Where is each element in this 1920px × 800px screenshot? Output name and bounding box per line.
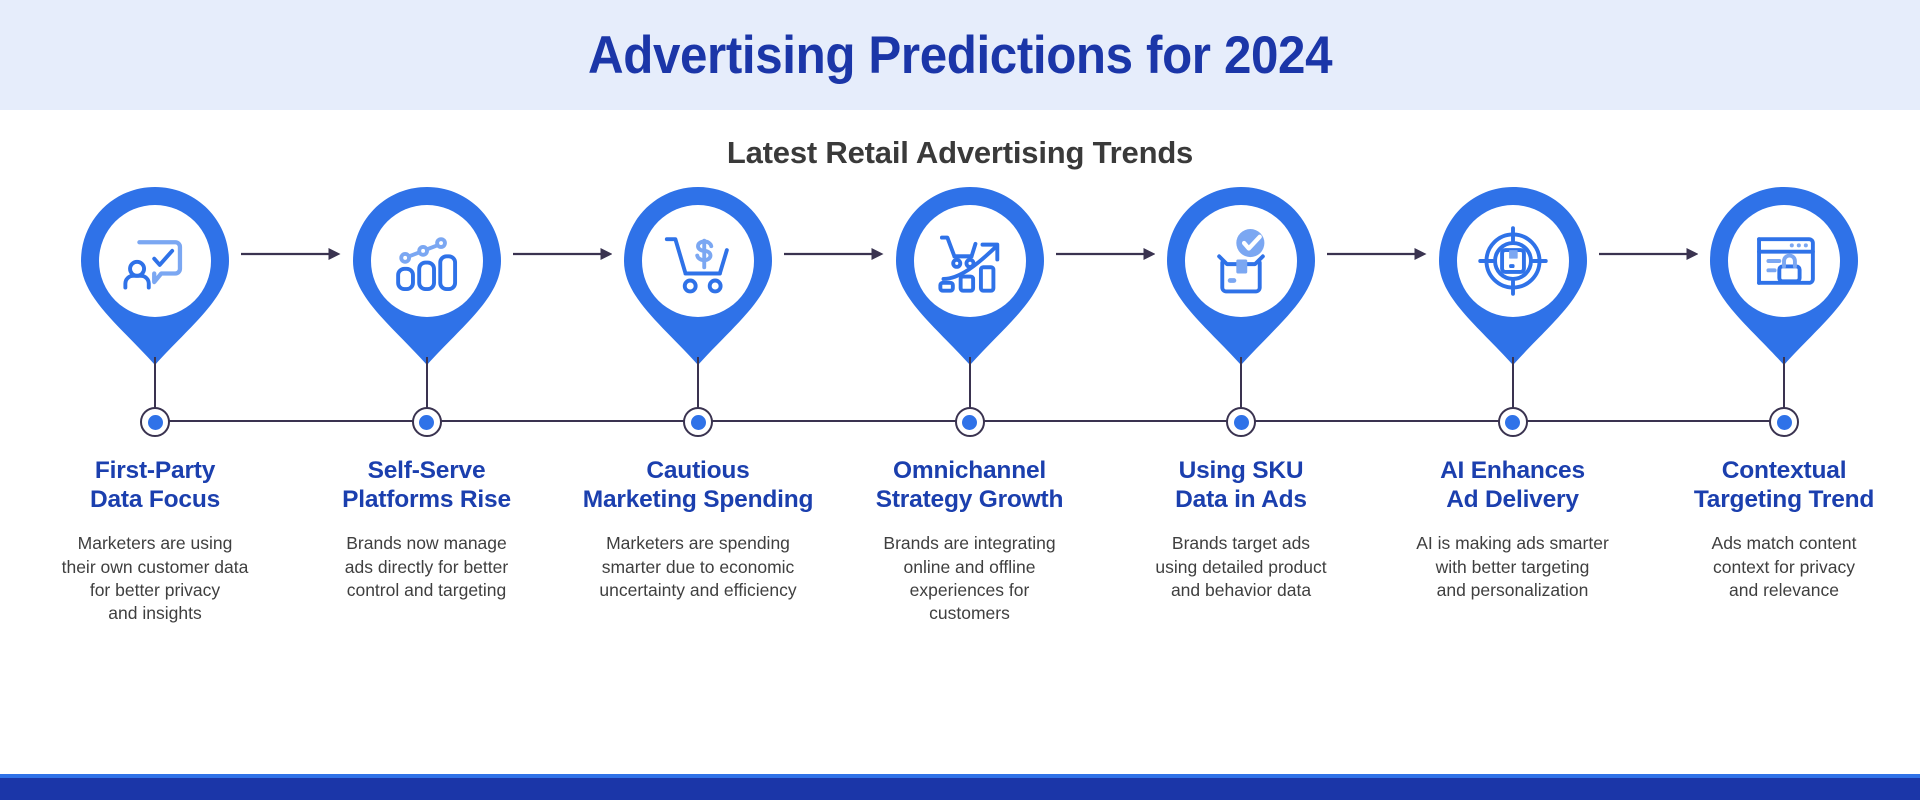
timeline-node[interactable] (1769, 407, 1799, 437)
flow-arrow-6 (1599, 247, 1699, 259)
subtitle: Latest Retail Advertising Trends (0, 135, 1920, 171)
timeline-node-dot (419, 415, 434, 430)
timeline-step-1[interactable]: First-Party Data FocusMarketers are usin… (18, 185, 292, 435)
flow-arrow-2 (513, 247, 613, 259)
step-caption: Omnichannel Strategy GrowthBrands are in… (833, 457, 1107, 625)
footer-band (0, 778, 1920, 800)
step-title: Cautious Marketing Spending (561, 457, 835, 514)
pin-marker[interactable] (18, 185, 292, 435)
step-caption: First-Party Data FocusMarketers are usin… (18, 457, 292, 625)
pin-marker[interactable] (833, 185, 1107, 435)
timeline-node-dot (962, 415, 977, 430)
step-description: Marketers are spending smarter due to ec… (561, 532, 835, 602)
timeline-node[interactable] (683, 407, 713, 437)
timeline-step-4[interactable]: Omnichannel Strategy GrowthBrands are in… (833, 185, 1107, 435)
timeline-node-dot (148, 415, 163, 430)
shopping-cart-dollar-icon (659, 222, 737, 300)
step-description: Brands target ads using detailed product… (1104, 532, 1378, 602)
timeline-node-dot (1505, 415, 1520, 430)
step-description: Marketers are using their own customer d… (18, 532, 292, 625)
step-description: Brands now manage ads directly for bette… (290, 532, 564, 602)
cart-growth-chart-icon (931, 222, 1009, 300)
pin-marker[interactable] (1376, 185, 1650, 435)
timeline-step-7[interactable]: Contextual Targeting TrendAds match cont… (1647, 185, 1920, 435)
step-caption: Self-Serve Platforms RiseBrands now mana… (290, 457, 564, 602)
feedback-check-icon (116, 222, 194, 300)
open-box-check-icon (1202, 222, 1280, 300)
timeline-stage: First-Party Data FocusMarketers are usin… (0, 185, 1920, 745)
step-caption: Cautious Marketing SpendingMarketers are… (561, 457, 835, 602)
flow-arrow-5 (1327, 247, 1427, 259)
step-description: AI is making ads smarter with better tar… (1376, 532, 1650, 602)
step-title: Self-Serve Platforms Rise (290, 457, 564, 514)
flow-arrow-1 (241, 247, 341, 259)
step-caption: Contextual Targeting TrendAds match cont… (1647, 457, 1920, 602)
step-caption: Using SKU Data in AdsBrands target ads u… (1104, 457, 1378, 602)
flow-arrow-4 (1056, 247, 1156, 259)
timeline-node[interactable] (140, 407, 170, 437)
step-title: Contextual Targeting Trend (1647, 457, 1920, 514)
step-title: AI Enhances Ad Delivery (1376, 457, 1650, 514)
step-description: Ads match content context for privacy an… (1647, 532, 1920, 602)
page-title: Advertising Predictions for 2024 (588, 25, 1332, 86)
timeline-step-6[interactable]: AI Enhances Ad DeliveryAI is making ads … (1376, 185, 1650, 435)
bar-chart-trend-icon (388, 222, 466, 300)
pin-marker[interactable] (1104, 185, 1378, 435)
flow-arrow-3 (784, 247, 884, 259)
timeline-step-5[interactable]: Using SKU Data in AdsBrands target ads u… (1104, 185, 1378, 435)
step-caption: AI Enhances Ad DeliveryAI is making ads … (1376, 457, 1650, 602)
timeline-node[interactable] (955, 407, 985, 437)
pin-marker[interactable] (561, 185, 835, 435)
step-title: Using SKU Data in Ads (1104, 457, 1378, 514)
pin-marker[interactable] (1647, 185, 1920, 435)
timeline-step-2[interactable]: Self-Serve Platforms RiseBrands now mana… (290, 185, 564, 435)
browser-ad-lock-icon (1745, 222, 1823, 300)
step-description: Brands are integrating online and offlin… (833, 532, 1107, 625)
timeline-step-3[interactable]: Cautious Marketing SpendingMarketers are… (561, 185, 835, 435)
timeline-node[interactable] (412, 407, 442, 437)
step-title: Omnichannel Strategy Growth (833, 457, 1107, 514)
timeline-node[interactable] (1498, 407, 1528, 437)
timeline-node-dot (691, 415, 706, 430)
header-band: Advertising Predictions for 2024 (0, 0, 1920, 110)
target-box-icon (1474, 222, 1552, 300)
timeline-node-dot (1777, 415, 1792, 430)
timeline-node[interactable] (1226, 407, 1256, 437)
pin-marker[interactable] (290, 185, 564, 435)
step-title: First-Party Data Focus (18, 457, 292, 514)
timeline-node-dot (1234, 415, 1249, 430)
